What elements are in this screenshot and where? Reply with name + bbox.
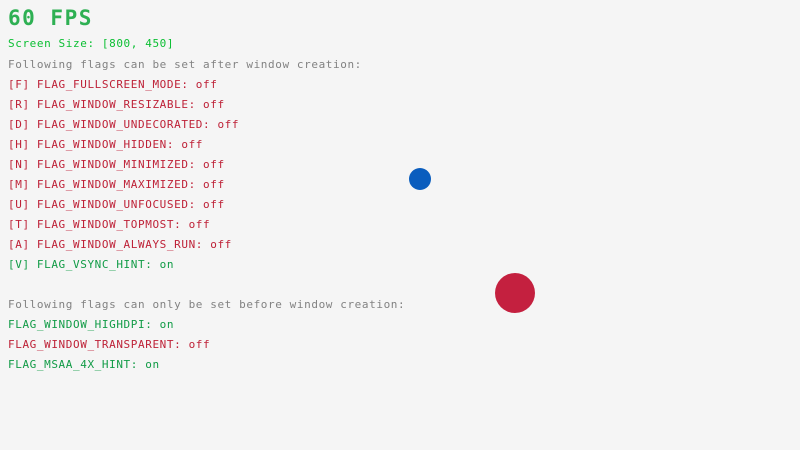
flag-row-window-topmost[interactable]: [T] FLAG_WINDOW_TOPMOST: off bbox=[8, 219, 210, 230]
raylib-window-canvas[interactable]: 60 FPS Screen Size: [800, 450] Following… bbox=[0, 0, 800, 450]
flag-row-window-unfocused[interactable]: [U] FLAG_WINDOW_UNFOCUSED: off bbox=[8, 199, 225, 210]
flag-row-msaa-4x-hint: FLAG_MSAA_4X_HINT: on bbox=[8, 359, 160, 370]
section-note-before-creation: Following flags can only be set before w… bbox=[8, 299, 405, 310]
screen-size-label: Screen Size: [800, 450] bbox=[8, 38, 174, 49]
flag-row-window-always-run[interactable]: [A] FLAG_WINDOW_ALWAYS_RUN: off bbox=[8, 239, 232, 250]
section-note-after-creation: Following flags can be set after window … bbox=[8, 59, 362, 70]
flag-row-window-transparent: FLAG_WINDOW_TRANSPARENT: off bbox=[8, 339, 210, 350]
flag-row-window-undecorated[interactable]: [D] FLAG_WINDOW_UNDECORATED: off bbox=[8, 119, 239, 130]
fps-counter: 60 FPS bbox=[8, 8, 93, 29]
flag-row-window-hidden[interactable]: [H] FLAG_WINDOW_HIDDEN: off bbox=[8, 139, 203, 150]
blue-ball-shape bbox=[409, 168, 431, 190]
flag-row-window-resizable[interactable]: [R] FLAG_WINDOW_RESIZABLE: off bbox=[8, 99, 225, 110]
flag-row-window-maximized[interactable]: [M] FLAG_WINDOW_MAXIMIZED: off bbox=[8, 179, 225, 190]
flag-row-window-highdpi: FLAG_WINDOW_HIGHDPI: on bbox=[8, 319, 174, 330]
flag-row-vsync-hint[interactable]: [V] FLAG_VSYNC_HINT: on bbox=[8, 259, 174, 270]
flag-row-window-minimized[interactable]: [N] FLAG_WINDOW_MINIMIZED: off bbox=[8, 159, 225, 170]
flag-row-fullscreen-mode[interactable]: [F] FLAG_FULLSCREEN_MODE: off bbox=[8, 79, 217, 90]
red-ball-shape bbox=[495, 273, 535, 313]
